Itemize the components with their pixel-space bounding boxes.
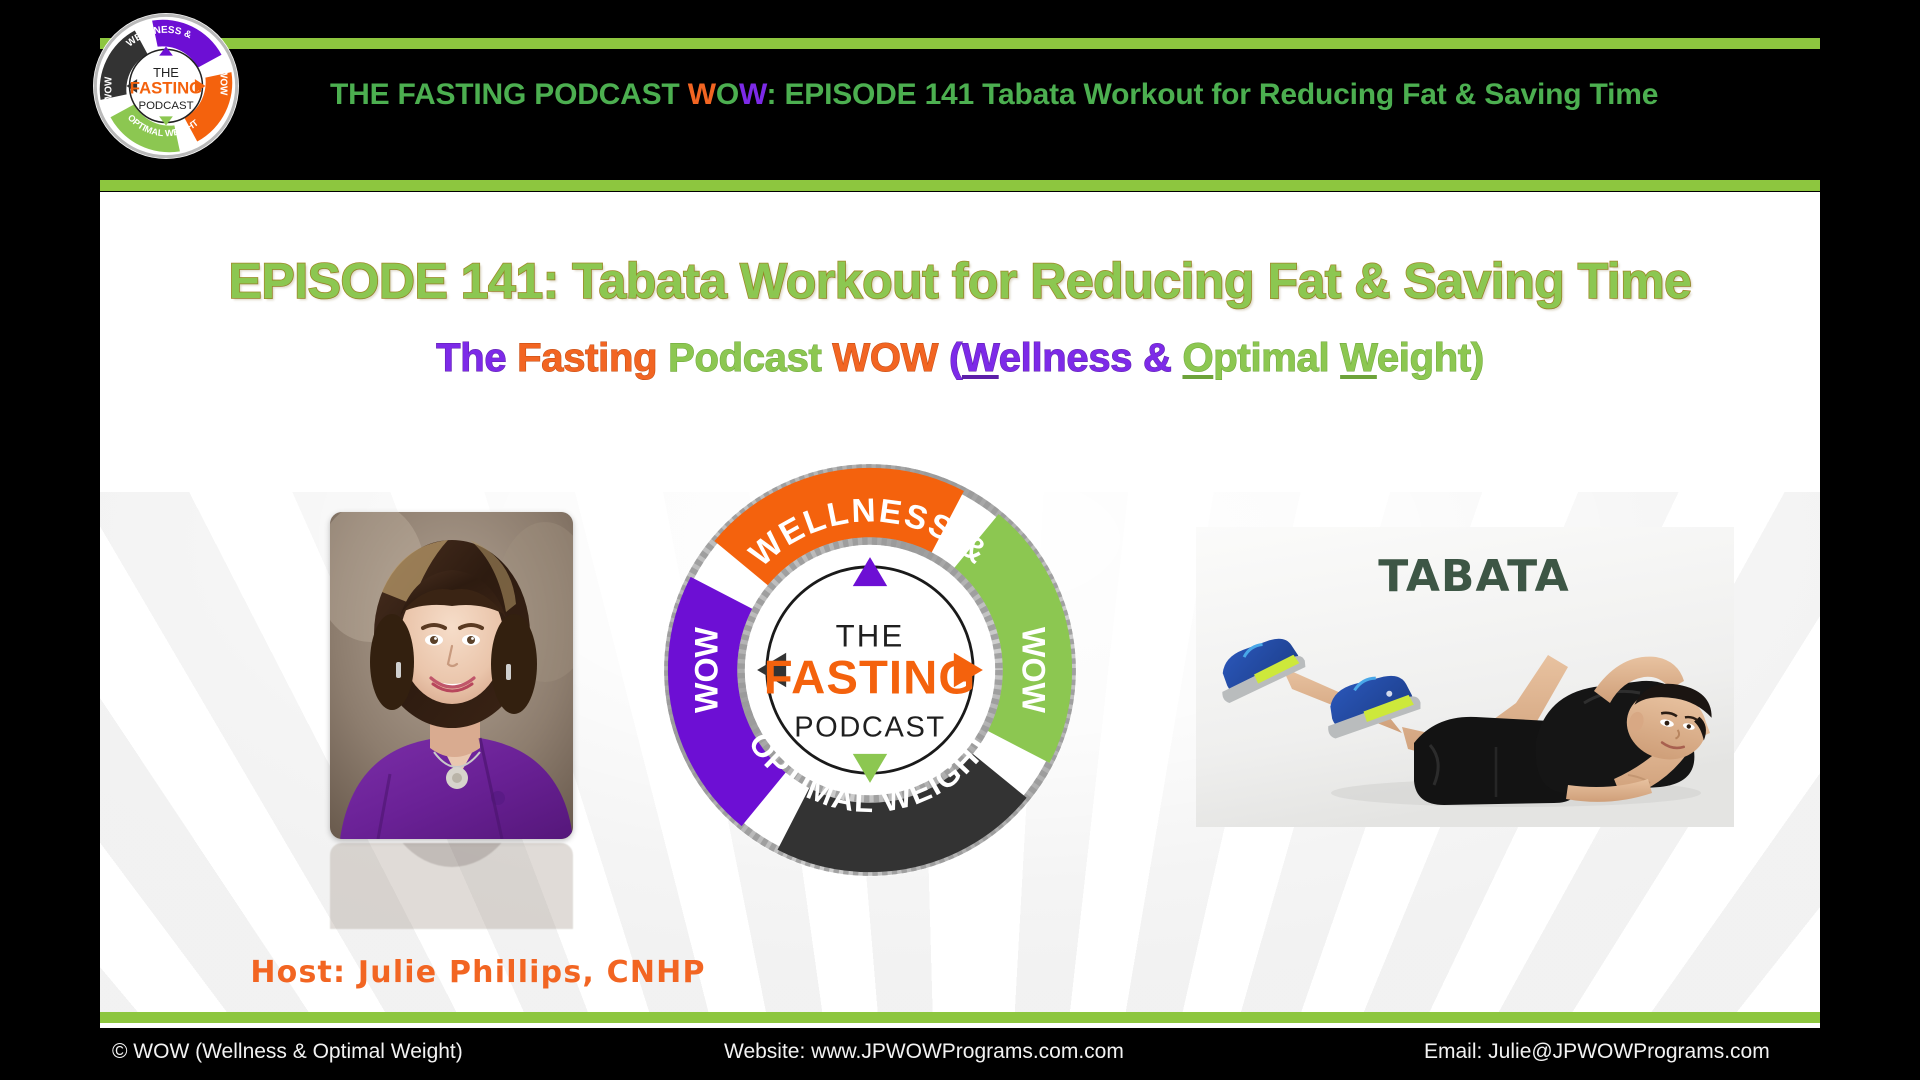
right-black-rail <box>1820 0 1920 1080</box>
subtitle-part-9: W <box>1340 336 1377 380</box>
header-title-part-3: W <box>739 78 767 111</box>
logo-wow-left-text: WOW <box>688 626 724 713</box>
subtitle-part-1: Fasting <box>517 336 668 380</box>
host-portrait-image <box>330 512 573 839</box>
logo-fasting-text: FASTING <box>764 652 977 705</box>
host-photo-reflection-image <box>330 843 573 929</box>
logo-the-text: THE <box>836 618 905 653</box>
subtitle-part-4: ( <box>949 336 962 380</box>
subtitle-part-0: The <box>436 336 517 380</box>
host-photo <box>330 512 573 839</box>
page-title: EPISODE 141: Tabata Workout for Reducing… <box>0 252 1920 310</box>
page-subtitle: The Fasting Podcast WOW (Wellness & Opti… <box>0 336 1920 381</box>
svg-text:WOW: WOW <box>103 76 114 103</box>
subtitle-part-6: ellness & <box>999 336 1183 380</box>
host-label: Host: Julie Phillips, CNHP <box>228 955 728 990</box>
subtitle-part-3: WOW <box>832 336 949 380</box>
header-title-part-0: THE FASTING PODCAST <box>330 78 688 111</box>
svg-text:FASTING: FASTING <box>130 79 202 98</box>
green-divider-top <box>100 38 1820 49</box>
tabata-image: TABATA <box>1196 527 1734 827</box>
green-divider-bottom <box>100 1012 1820 1023</box>
host-photo-reflection <box>330 843 573 929</box>
footer-copyright: © WOW (Wellness & Optimal Weight) <box>112 1040 463 1064</box>
header-title-part-4: : EPISODE 141 Tabata Workout for Reducin… <box>767 78 1659 111</box>
left-black-rail <box>0 0 100 1080</box>
wow-logo-small-icon: THE FASTING PODCAST WELLNESS & OPTIMAL W… <box>90 10 242 162</box>
tabata-caption-text: TABATA <box>1378 551 1569 602</box>
footer-website: Website: www.JPWOWPrograms.com.com <box>724 1040 1124 1064</box>
subtitle-part-2: Podcast <box>668 336 832 380</box>
footer-email: Email: Julie@JPWOWPrograms.com <box>1424 1040 1770 1064</box>
logo-podcast-text: PODCAST <box>794 712 946 744</box>
svg-text:WOW: WOW <box>218 69 229 96</box>
header-title-part-1: W <box>688 78 716 111</box>
subtitle-part-8: ptimal <box>1213 336 1340 380</box>
subtitle-part-5: W <box>962 336 999 380</box>
wow-logo-large-icon: THE FASTING PODCAST WELLNESS & OPTIMAL W… <box>655 455 1085 885</box>
green-divider-header-bottom <box>100 180 1820 191</box>
header-title-part-2: O <box>716 78 739 111</box>
svg-text:PODCAST: PODCAST <box>138 100 193 112</box>
logo-wow-right-text: WOW <box>1016 627 1052 714</box>
subtitle-part-10: eight) <box>1377 336 1484 380</box>
wow-podcast-logo: THE FASTING PODCAST WELLNESS & OPTIMAL W… <box>655 455 1085 885</box>
svg-text:THE: THE <box>153 65 179 80</box>
podcast-episode-slide: THE FASTING PODCAST WOW: EPISODE 141 Tab… <box>0 0 1920 1080</box>
header-episode-title: THE FASTING PODCAST WOW: EPISODE 141 Tab… <box>330 78 1760 112</box>
header-wow-logo: THE FASTING PODCAST WELLNESS & OPTIMAL W… <box>90 10 242 162</box>
tabata-exercise-illustration: TABATA <box>1196 527 1734 827</box>
subtitle-part-7: O <box>1182 336 1213 380</box>
